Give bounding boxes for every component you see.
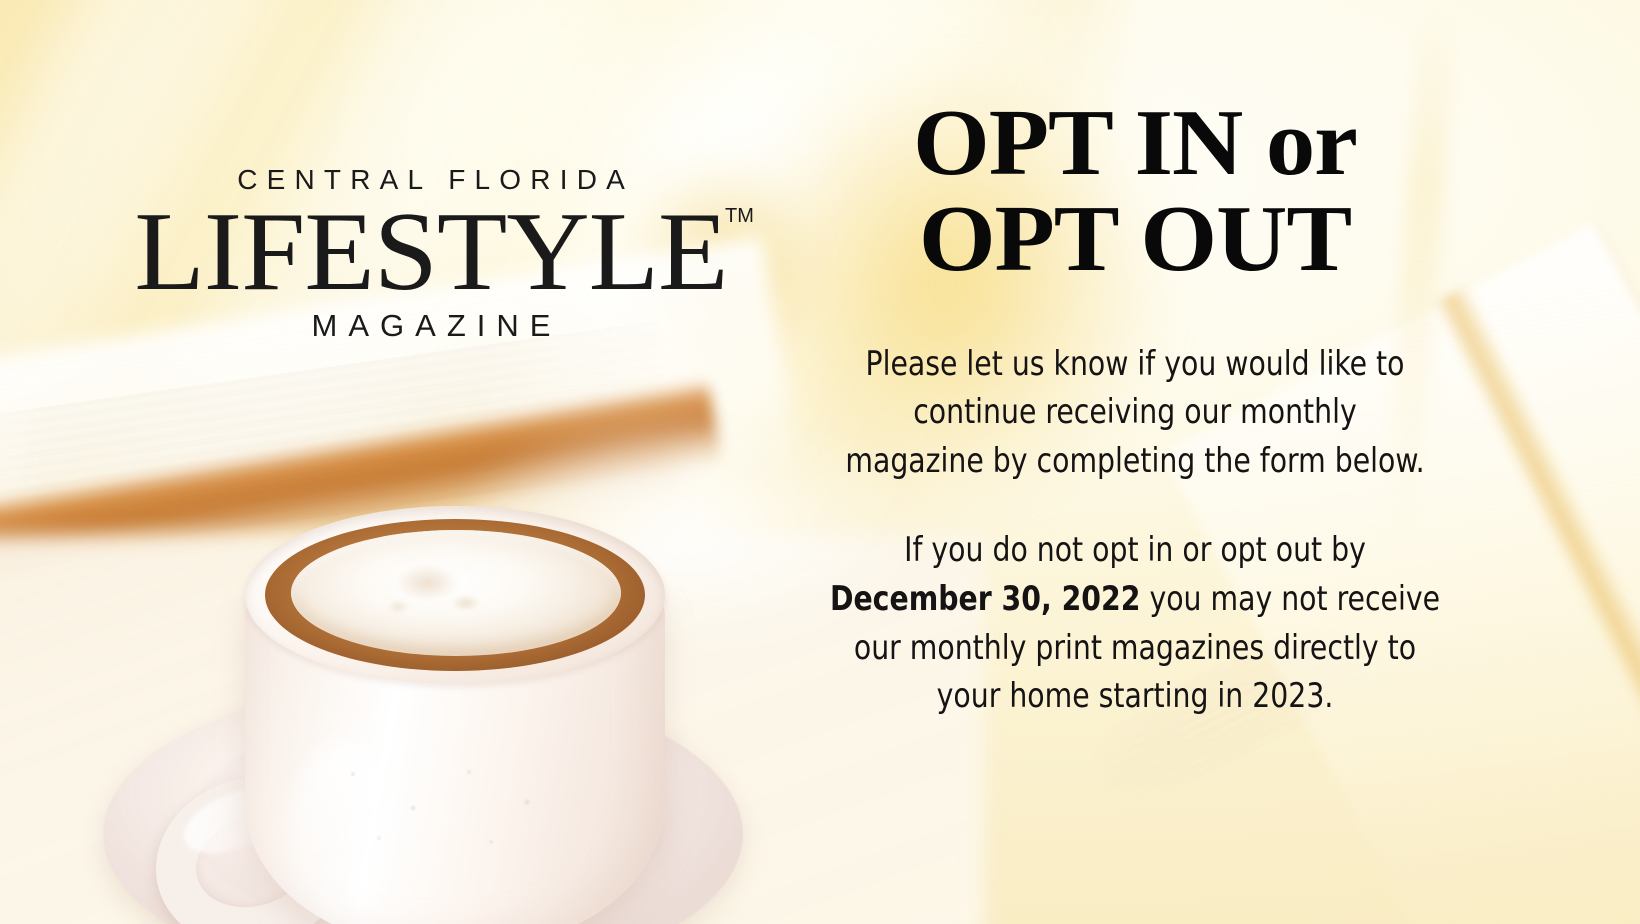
- paragraph-request-line-1: Please let us know if you would like to: [811, 340, 1460, 389]
- paragraph-deadline-line-1: If you do not opt in or opt out by: [811, 526, 1460, 575]
- page-title: OPT IN or OPT OUT: [773, 96, 1498, 288]
- paragraph-deadline-line-2: December 30, 2022 you may not receive: [811, 575, 1460, 624]
- body-copy: Please let us know if you would like to …: [811, 340, 1460, 721]
- paragraph-deadline-line-4: your home starting in 2023.: [811, 672, 1460, 721]
- paragraph-request-line-3: magazine by completing the form below.: [811, 437, 1460, 486]
- deadline-date: December 30, 2022: [830, 579, 1141, 618]
- paragraph-request-line-2: continue receiving our monthly: [811, 388, 1460, 437]
- logo-subtitle: MAGAZINE: [118, 310, 744, 341]
- message-panel: OPT IN or OPT OUT Please let us know if …: [790, 96, 1480, 721]
- headline-line-1: OPT IN or: [773, 96, 1498, 192]
- trademark-icon: TM: [725, 207, 754, 225]
- milk-foam-texture: [327, 546, 537, 638]
- coffee-cup: [95, 488, 775, 924]
- paragraph-deadline-line-3: our monthly print magazines directly to: [811, 624, 1460, 673]
- magazine-logo: CENTRAL FLORIDA LIFESTYLE TM MAGAZINE: [118, 166, 744, 341]
- cup-floral-pattern: [331, 756, 591, 866]
- paragraph-deadline-line-2-rest: you may not receive: [1140, 579, 1440, 618]
- promo-banner: CENTRAL FLORIDA LIFESTYLE TM MAGAZINE OP…: [0, 0, 1640, 924]
- logo-wordmark-wrap: LIFESTYLE TM: [134, 201, 727, 304]
- logo-wordmark: LIFESTYLE: [134, 190, 727, 314]
- headline-line-2: OPT OUT: [773, 192, 1498, 288]
- paragraph-request: Please let us know if you would like to …: [811, 340, 1460, 486]
- paragraph-deadline: If you do not opt in or opt out by Decem…: [811, 526, 1460, 720]
